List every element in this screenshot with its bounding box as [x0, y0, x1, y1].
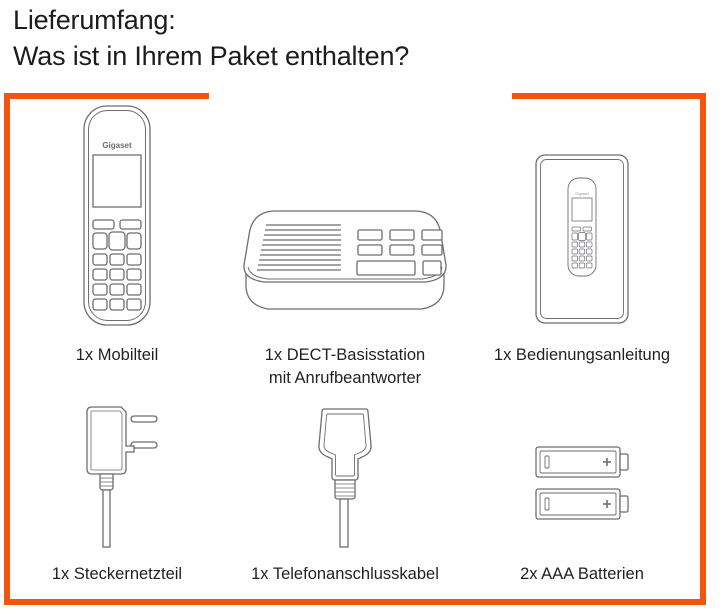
caption-line-1: 1x DECT-Basisstation [226, 344, 464, 367]
title-line-2: Was ist in Ihrem Paket enthalten? [13, 38, 703, 74]
aaa-battery-icon [466, 385, 698, 527]
caption-line-1: 1x Mobilteil [12, 344, 222, 367]
item-caption: 1x Bedienungsanleitung [466, 344, 698, 367]
caption-line-1: 1x Bedienungsanleitung [466, 344, 698, 367]
caption-line-1: 2x AAA Batterien [466, 563, 698, 586]
item-caption: 2x AAA Batterien [466, 563, 698, 586]
item-phone-cable: 1x Telefonanschlusskabel [226, 385, 464, 551]
item-batteries: 2x AAA Batterien [466, 385, 698, 527]
item-base-station: 1x DECT-Basisstation mit Anrufbeantworte… [226, 103, 464, 325]
title-line-1: Lieferumfang: [13, 2, 703, 38]
item-handset: Gigaset [12, 103, 222, 328]
dect-base-station-icon [226, 103, 464, 325]
power-adapter-icon [12, 385, 222, 551]
page-title: Lieferumfang: Was ist in Ihrem Paket ent… [13, 2, 703, 74]
cordless-handset-icon: Gigaset [12, 103, 222, 328]
item-caption: 1x Mobilteil [12, 344, 222, 367]
package-contents-grid: Gigaset [4, 93, 706, 605]
item-caption: 1x DECT-Basisstation mit Anrufbeantworte… [226, 344, 464, 390]
caption-line-1: 1x Steckernetzteil [12, 563, 222, 586]
user-manual-icon: Gigaset [466, 103, 698, 327]
caption-line-1: 1x Telefonanschlusskabel [226, 563, 464, 586]
telephone-cable-icon [226, 385, 464, 551]
svg-text:Gigaset: Gigaset [575, 191, 590, 196]
item-caption: 1x Telefonanschlusskabel [226, 563, 464, 586]
item-manual: Gigaset [466, 103, 698, 327]
item-power-supply: 1x Steckernetzteil [12, 385, 222, 551]
item-caption: 1x Steckernetzteil [12, 563, 222, 586]
svg-text:Gigaset: Gigaset [102, 141, 132, 150]
